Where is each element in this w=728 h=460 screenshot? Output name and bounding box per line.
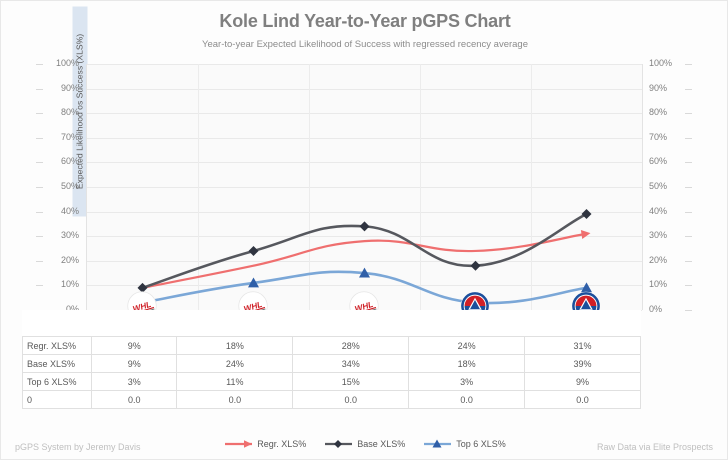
y-axis-tick-label: 10% [45, 279, 79, 289]
table-cell [177, 310, 293, 337]
y-axis-tick-label: 40% [649, 206, 683, 216]
table-cell: 0.0 [293, 391, 409, 409]
series-base-xls [138, 209, 592, 293]
legend-label: Base XLS% [357, 439, 405, 449]
legend-marker-icon [224, 433, 254, 455]
table-cell: 18% [177, 337, 293, 355]
table-cell: 0.0 [92, 391, 177, 409]
y-axis-tick-label: 70% [649, 132, 683, 142]
y-axis-tick [685, 64, 692, 65]
y-axis-tick-label: 30% [649, 230, 683, 240]
table-cell [409, 310, 525, 337]
y-axis-tick-label: 80% [649, 107, 683, 117]
table-cell: 3% [409, 373, 525, 391]
legend-marker-icon [423, 433, 453, 455]
table-cell: 28% [293, 337, 409, 355]
y-axis-tick [36, 64, 43, 65]
table-cell: 24% [177, 355, 293, 373]
table-row: Top 6 XLS%3%11%15%3%9% [23, 373, 641, 391]
y-axis-tick [36, 261, 43, 262]
table-cell: 34% [293, 355, 409, 373]
series-line [143, 234, 587, 288]
y-axis-tick-label: 50% [649, 181, 683, 191]
data-point-marker [582, 209, 592, 219]
y-axis-tick [685, 162, 692, 163]
y-axis-tick [36, 236, 43, 237]
table-cell: 18% [409, 355, 525, 373]
y-axis-tick [36, 187, 43, 188]
table-row-header: Top 6 XLS% [23, 373, 92, 391]
legend-label: Regr. XLS% [257, 439, 306, 449]
y-axis-tick [685, 310, 692, 311]
y-axis-tick-label: 30% [45, 230, 79, 240]
table-cell: 9% [525, 373, 641, 391]
chart-title: Kole Lind Year-to-Year pGPS Chart [1, 11, 728, 32]
y-axis-tick-label: 60% [649, 156, 683, 166]
y-axis-tick [36, 138, 43, 139]
footer-credit: pGPS System by Jeremy Davis [15, 442, 141, 452]
y-axis-tick [36, 89, 43, 90]
table-cell: 3% [92, 373, 177, 391]
legend-label: Top 6 XLS% [456, 439, 506, 449]
legend-item-regr-xls[interactable]: Regr. XLS% [224, 433, 306, 455]
table-cell: 0.0 [177, 391, 293, 409]
y-axis-tick-label: 90% [649, 83, 683, 93]
y-axis-tick [685, 89, 692, 90]
legend-item-base-xls[interactable]: Base XLS% [324, 433, 405, 455]
y-axis-tick [685, 212, 692, 213]
chart-container: Kole Lind Year-to-Year pGPS Chart Year-t… [0, 0, 728, 460]
legend-item-top-6-xls[interactable]: Top 6 XLS% [423, 433, 506, 455]
y-axis-tick-label: 20% [649, 255, 683, 265]
table-row-header: Base XLS% [23, 355, 92, 373]
plot-area [86, 64, 643, 310]
table-cell: 15% [293, 373, 409, 391]
footer-source: Raw Data via Elite Prospects [597, 442, 713, 452]
table-cell: 24% [409, 337, 525, 355]
table-row: Regr. XLS%9%18%28%24%31% [23, 337, 641, 355]
table-cell: 9% [92, 355, 177, 373]
y-axis-tick-label: 10% [649, 279, 683, 289]
y-axis-tick-label: 0% [649, 304, 683, 314]
arrow-head-icon [581, 230, 591, 239]
y-axis-tick [685, 113, 692, 114]
y-axis-tick [36, 212, 43, 213]
y-axis-tick [685, 236, 692, 237]
legend-marker-icon [324, 433, 354, 455]
table-cell [92, 310, 177, 337]
table-header-spacer [23, 310, 641, 337]
y-axis-tick-label: 100% [45, 58, 79, 68]
data-table: Regr. XLS%9%18%28%24%31%Base XLS%9%24%34… [22, 310, 641, 409]
y-axis-tick [685, 261, 692, 262]
y-axis-tick [36, 162, 43, 163]
y-axis-tick-label: 80% [45, 107, 79, 117]
y-axis-tick-label: 50% [45, 181, 79, 191]
data-point-marker [471, 261, 481, 271]
table-row-header: Regr. XLS% [23, 337, 92, 355]
y-axis-tick-label: 40% [45, 206, 79, 216]
y-axis-tick [685, 138, 692, 139]
table-cell [525, 310, 641, 337]
y-axis-title-container: Expected Likelihood os Success (XLS%) [23, 86, 41, 296]
table-cell [23, 310, 92, 337]
y-axis-tick-label: 100% [649, 58, 683, 68]
series-regr-xls [143, 230, 591, 288]
y-axis-tick [36, 113, 43, 114]
y-axis-tick-label: 60% [45, 156, 79, 166]
table-row: 00.00.00.00.00.0 [23, 391, 641, 409]
table-cell: 9% [92, 337, 177, 355]
data-point-marker [249, 246, 259, 256]
y-axis-tick-label: 90% [45, 83, 79, 93]
table-cell: 0.0 [525, 391, 641, 409]
series-lines [87, 64, 642, 310]
table-cell: 0.0 [409, 391, 525, 409]
y-axis-tick [685, 187, 692, 188]
table-row-header: 0 [23, 391, 92, 409]
table-cell: 39% [525, 355, 641, 373]
y-axis-tick-label: 70% [45, 132, 79, 142]
y-axis-tick-label: 20% [45, 255, 79, 265]
chart-subtitle: Year-to-year Expected Likelihood of Succ… [1, 39, 728, 50]
table-row: Base XLS%9%24%34%18%39% [23, 355, 641, 373]
data-point-marker [360, 221, 370, 231]
table-cell: 11% [177, 373, 293, 391]
y-axis-tick [685, 285, 692, 286]
y-axis-tick [36, 285, 43, 286]
table-cell: 31% [525, 337, 641, 355]
table-cell [293, 310, 409, 337]
